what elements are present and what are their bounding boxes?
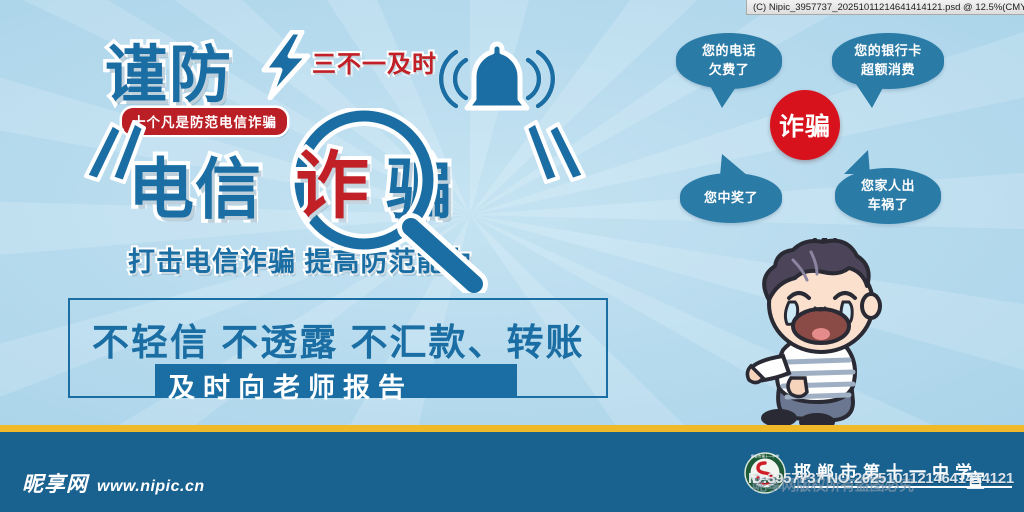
speech-bubble-tail-4-icon (838, 150, 872, 176)
headline-group: 谨防 三不一及时 十个凡是防范电信诈骗 (0, 0, 640, 300)
bubble-2-line-1: 您的银行卡 (854, 42, 922, 61)
headline-word-zha: 诈 (295, 126, 369, 233)
slogan-line-2: 及时向老师报告 (168, 366, 413, 405)
fraud-badge-label: 诈骗 (779, 107, 831, 143)
bubble-3-line-1: 您中奖了 (704, 189, 758, 208)
headline-word-dianxin: 电信 (128, 136, 262, 232)
nipic-watermark-url: www.nipic.cn (97, 478, 205, 496)
speech-bubble-tail-3-icon (718, 154, 750, 178)
bubble-2-line-2: 超额消费 (854, 61, 922, 80)
speech-bubble-family-accident: 您家人出 车祸了 (835, 168, 941, 224)
headline-word-jinfang: 谨防 (105, 24, 233, 114)
photoshop-document-title: (C) Nipic_3957737_20251011214641414121.p… (753, 2, 1024, 13)
bubble-1-line-2: 欠费了 (702, 61, 756, 80)
speech-bubble-tail-1-icon (708, 82, 742, 108)
speech-bubble-you-won-prize: 您中奖了 (680, 173, 782, 223)
photoshop-title-bar[interactable]: (C) Nipic_3957737_20251011214641414121.p… (746, 0, 1024, 15)
speech-bubble-phone-overdue: 您的电话 欠费了 (676, 33, 782, 89)
headline-badge-sanbu: 三不一及时 (312, 44, 437, 79)
poster-canvas: (C) Nipic_3957737_20251011214641414121.p… (0, 0, 1024, 512)
nipic-watermark-cn: 昵享网 (22, 468, 88, 498)
gold-divider (0, 425, 1024, 432)
speech-bubble-tail-2-icon (852, 82, 886, 108)
slogan-line-1: 不轻信 不透露 不汇款、转账 (92, 312, 585, 366)
quote-mark-right-icon (516, 118, 588, 184)
lightning-bolt-icon (256, 30, 316, 100)
bubble-4-line-2: 车祸了 (861, 196, 915, 215)
nipic-watermark: 昵享网 www.nipic.cn (22, 468, 205, 498)
id-watermark: ID:3957737 NO:20251011214641414121 (748, 470, 1014, 487)
speech-bubble-bank-card: 您的银行卡 超额消费 (832, 33, 944, 89)
bubble-4-line-1: 您家人出 (861, 177, 915, 196)
fraud-badge: 诈骗 (770, 90, 840, 160)
svg-text:邯郸市第十一中学: 邯郸市第十一中学 (751, 454, 780, 459)
bubble-1-line-1: 您的电话 (702, 42, 756, 61)
crying-boy-illustration (745, 238, 930, 433)
